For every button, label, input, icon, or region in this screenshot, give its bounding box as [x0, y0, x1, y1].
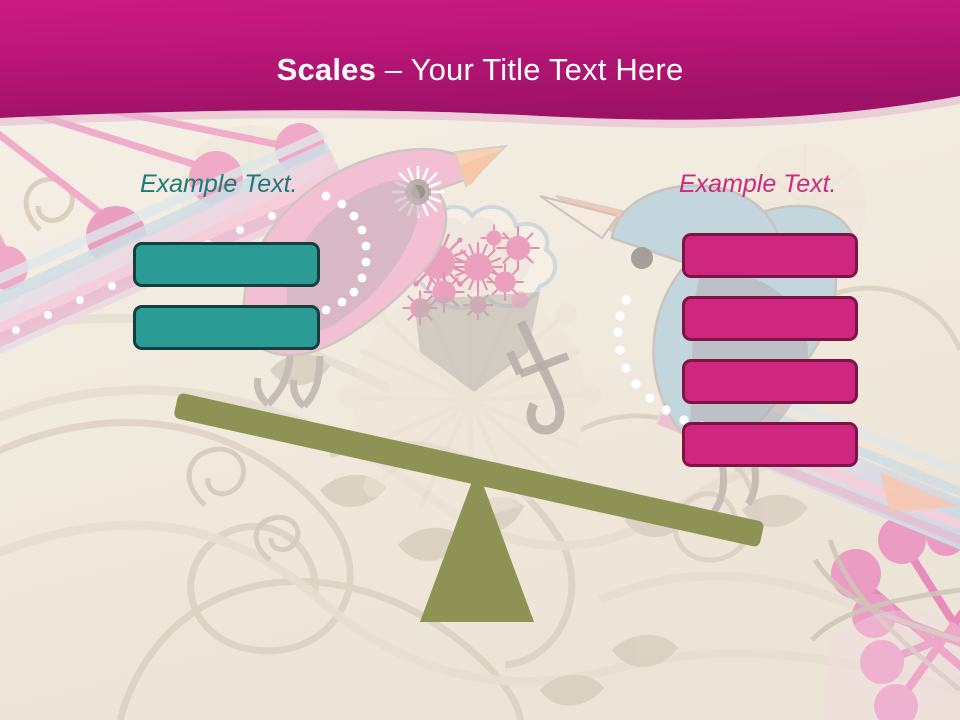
right-content-bar-3[interactable] — [682, 359, 858, 404]
left-example-text-label[interactable]: Example Text. — [140, 170, 297, 199]
right-example-text-label[interactable]: Example Text. — [679, 170, 836, 199]
right-content-bar-1[interactable] — [682, 233, 858, 278]
page-title: Scales – Your Title Text Here — [0, 50, 960, 90]
page-title-rest: – Your Title Text Here — [376, 52, 683, 87]
left-content-bar-1[interactable] — [133, 242, 320, 287]
page-title-strong: Scales — [277, 52, 376, 87]
right-content-bar-4[interactable] — [682, 422, 858, 467]
left-content-bar-2[interactable] — [133, 305, 320, 350]
right-content-bar-2[interactable] — [682, 296, 858, 341]
slide-canvas: Scales – Your Title Text Here Example Te… — [0, 0, 960, 720]
